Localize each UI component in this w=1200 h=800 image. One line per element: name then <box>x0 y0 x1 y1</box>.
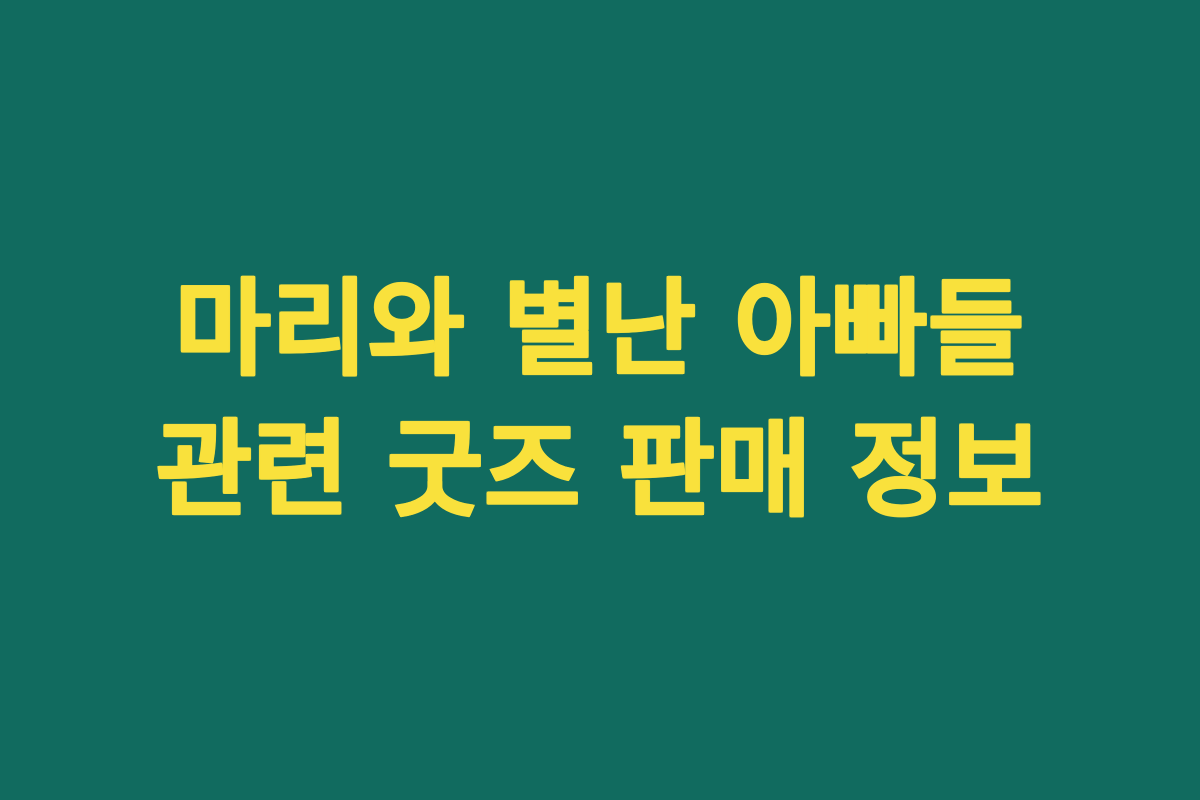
headline-text: 마리와 별난 아빠들 관련 굿즈 판매 정보 <box>125 259 1075 542</box>
banner-canvas: 마리와 별난 아빠들 관련 굿즈 판매 정보 <box>0 0 1200 800</box>
headline-block: 마리와 별난 아빠들 관련 굿즈 판매 정보 <box>125 259 1075 542</box>
